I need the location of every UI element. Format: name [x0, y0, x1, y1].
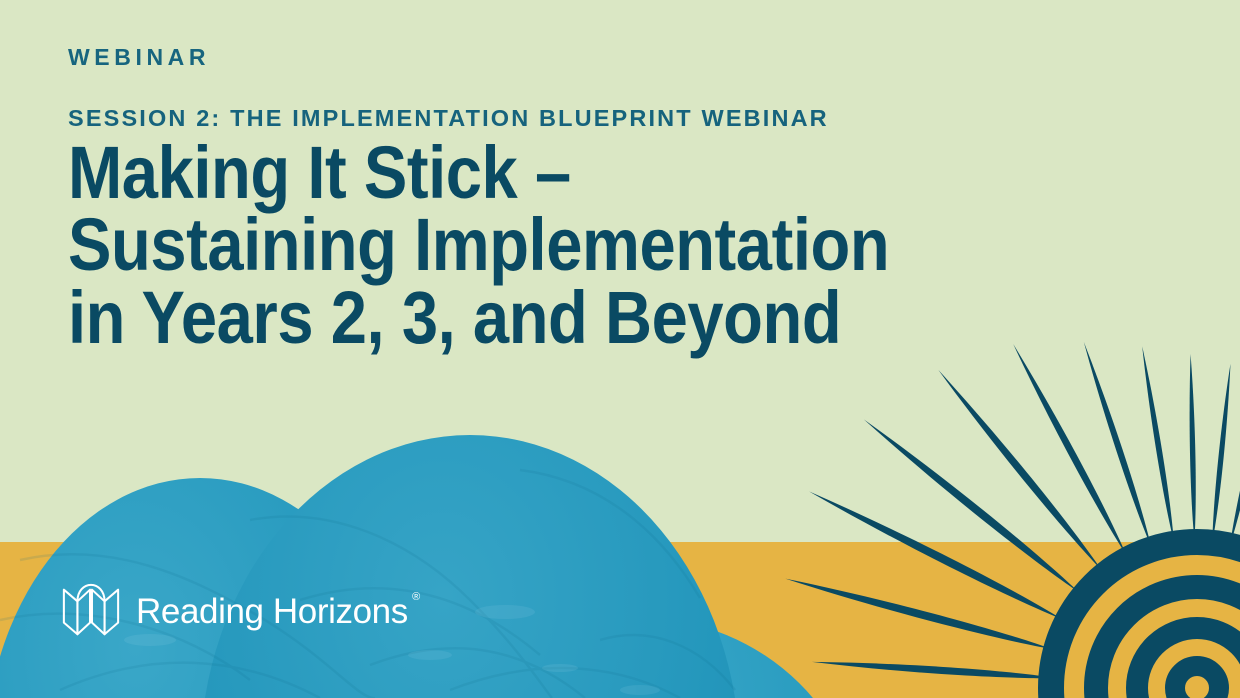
eyebrow-label: WEBINAR [68, 46, 1098, 69]
webinar-title-slide: WEBINAR SESSION 2: THE IMPLEMENTATION BL… [0, 0, 1240, 698]
slide-text-block: WEBINAR SESSION 2: THE IMPLEMENTATION BL… [68, 46, 1098, 354]
page-title: Making It Stick – Sustaining Implementat… [68, 137, 974, 355]
brand-wordmark: Reading Horizons® [136, 594, 408, 629]
brand-logo[interactable]: Reading Horizons® [60, 580, 408, 642]
registered-trademark-icon: ® [412, 592, 420, 603]
hill-center [200, 435, 740, 698]
session-subtitle: SESSION 2: THE IMPLEMENTATION BLUEPRINT … [68, 107, 1098, 131]
reading-horizons-butterfly-mark-icon [60, 580, 122, 642]
brand-name: Reading Horizons [136, 592, 408, 631]
